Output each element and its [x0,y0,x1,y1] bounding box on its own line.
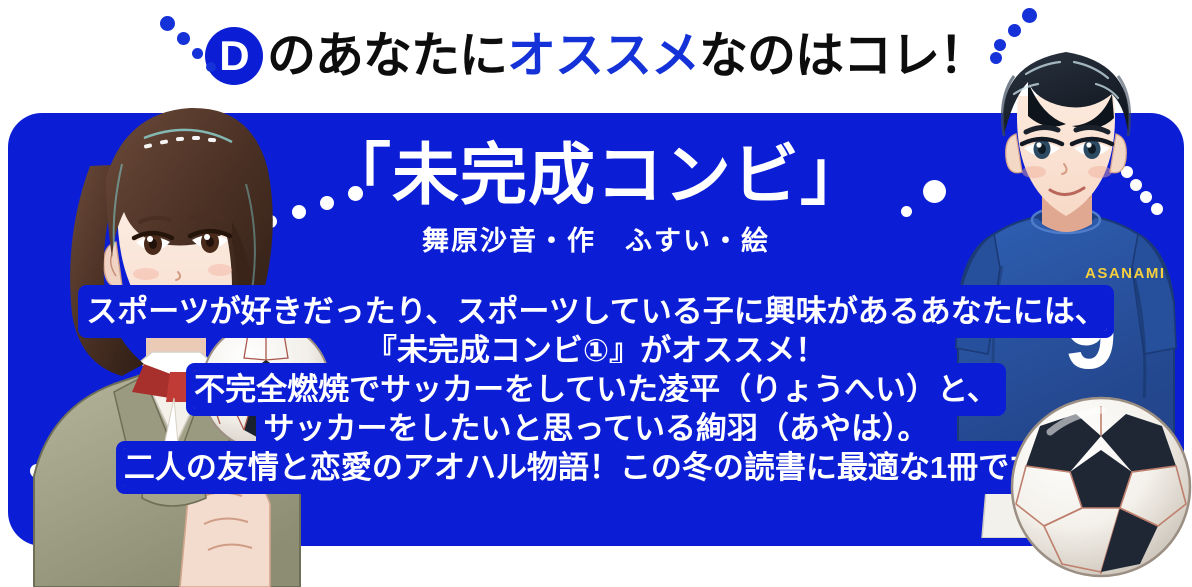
panel-dot-left-4 [348,186,363,201]
header-dot-left-4 [206,62,216,72]
character-girl [0,46,324,587]
soccer-ball-right [1010,396,1192,578]
jersey-number-text: 9 [1064,283,1117,389]
panel-dot-mid-1 [901,206,912,217]
header-dot-left-1 [160,16,175,31]
header-dot-left-2 [177,32,190,45]
header-dot-right-2 [1008,24,1021,37]
header-dot-right-4 [990,52,1002,64]
jersey-name-text: ASANAMI [1085,265,1166,282]
header-dot-left-3 [192,48,203,59]
header-dot-right-1 [1022,8,1037,23]
soccer-ball-left [200,320,332,452]
headline-text-highlight: オススメ [507,32,699,81]
promo-banner: ASANAMI 9 [0,0,1192,587]
header-dot-right-3 [994,39,1006,51]
